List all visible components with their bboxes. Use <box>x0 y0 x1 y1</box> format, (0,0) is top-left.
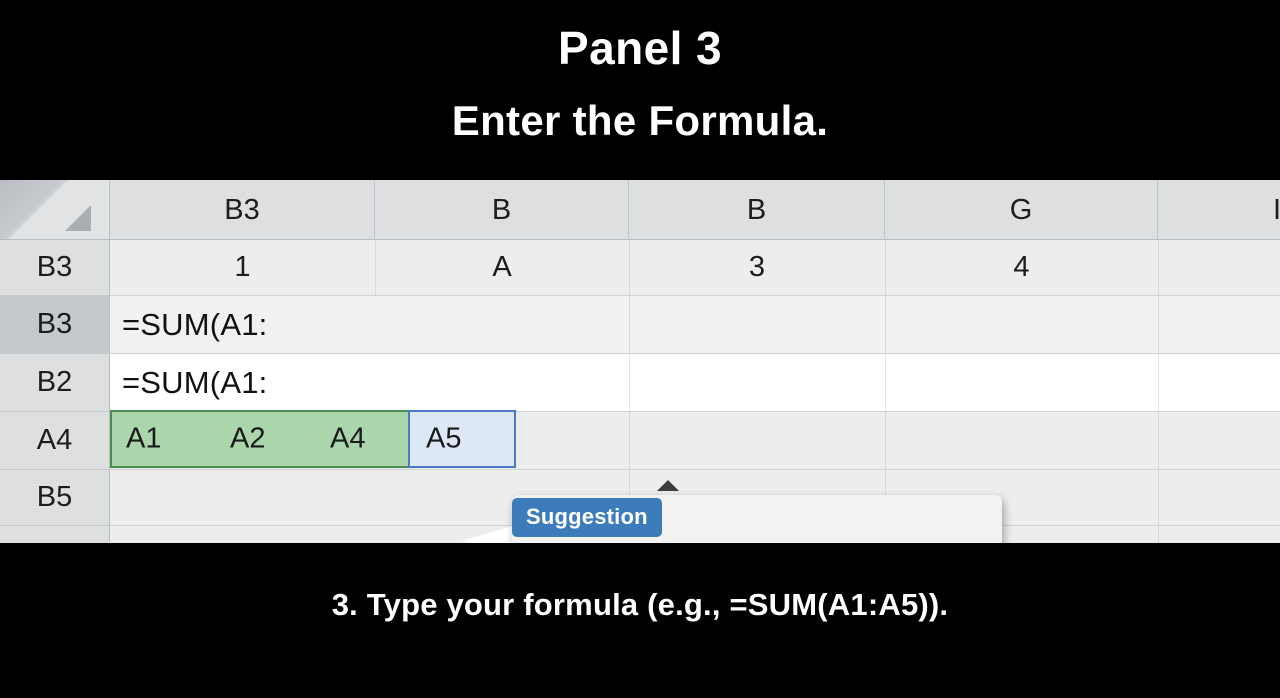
column-header-1[interactable]: B <box>375 180 629 240</box>
row-header-3[interactable]: A4 <box>0 412 110 470</box>
row-header-0[interactable]: B3 <box>0 240 110 296</box>
grid-line <box>629 296 630 353</box>
cell-a2[interactable]: A2 <box>230 423 265 456</box>
column-header-0[interactable]: B3 <box>110 180 375 240</box>
row-header-2[interactable]: B2 <box>0 354 110 412</box>
cell[interactable]: 4 <box>885 240 1158 295</box>
formula-row-b2[interactable]: =SUM(A1: <box>110 354 1280 412</box>
cell-a1[interactable]: A1 <box>126 423 161 456</box>
suggestion-badge: Suggestion <box>512 498 662 537</box>
panel-slide: Panel 3 Enter the Formula. B3 B B G I <box>0 0 1280 698</box>
row-header-1[interactable]: B3 <box>0 296 110 354</box>
grid-line <box>885 354 886 411</box>
caption-block: 3. Type your formula (e.g., =SUM(A1:A5))… <box>0 543 1280 698</box>
column-header-label: B <box>747 194 766 227</box>
suggestion-tooltip[interactable]: Suggestion SUM(number1, [number2) ...) C… <box>512 495 1002 543</box>
column-header-3[interactable]: G <box>885 180 1158 240</box>
active-cell-a5[interactable]: A5 <box>408 410 516 468</box>
cell[interactable]: 3 <box>629 240 885 295</box>
formula-input-b2[interactable]: =SUM(A1: <box>122 354 267 411</box>
select-all-corner[interactable] <box>0 180 110 240</box>
row-header-label: A4 <box>37 424 72 457</box>
row-header-label: B5 <box>37 481 72 514</box>
row-header-label: B3 <box>37 308 72 341</box>
cell-a5-label: A5 <box>426 423 461 456</box>
grid-line <box>1158 526 1159 543</box>
column-header-2[interactable]: B <box>629 180 885 240</box>
panel-subtitle: Enter the Formula. <box>452 97 828 145</box>
cell[interactable] <box>1158 240 1280 295</box>
title-block: Panel 3 Enter the Formula. <box>0 0 1280 180</box>
grid-line <box>885 296 886 353</box>
cell[interactable]: 1 <box>110 240 375 295</box>
table-row[interactable]: 1 A 3 4 <box>110 240 1280 296</box>
column-header-label: G <box>1010 194 1033 227</box>
row-header-partial[interactable] <box>0 526 110 543</box>
formula-row-active[interactable]: =SUM(A1: <box>110 296 1280 354</box>
row-header-label: B3 <box>37 251 72 284</box>
spreadsheet: B3 B B G I B3 1 A 3 4 <box>0 180 1280 543</box>
grid-line <box>629 412 630 469</box>
grid-line <box>1158 354 1159 411</box>
column-header-label: B3 <box>224 194 259 227</box>
column-header-label: B <box>492 194 511 227</box>
grid-line <box>1158 296 1159 353</box>
column-header-label: I <box>1273 194 1280 227</box>
grid-line <box>1158 412 1159 469</box>
column-header-4[interactable]: I <box>1158 180 1280 240</box>
cell-a4[interactable]: A4 <box>330 423 365 456</box>
grid-line <box>885 412 886 469</box>
cell[interactable]: A <box>375 240 629 295</box>
grid-line <box>1158 470 1159 525</box>
selected-range-green[interactable]: A1 A2 A4 <box>110 410 410 468</box>
row-header-label: B2 <box>37 366 72 399</box>
select-all-triangle-icon <box>65 205 91 231</box>
grid-line <box>629 354 630 411</box>
chevron-up-icon <box>657 480 679 491</box>
panel-title: Panel 3 <box>558 22 722 75</box>
selection-row[interactable]: A1 A2 A4 A5 <box>110 412 1280 470</box>
step-caption: 3. Type your formula (e.g., =SUM(A1:A5))… <box>332 587 949 623</box>
row-header-4[interactable]: B5 <box>0 470 110 526</box>
formula-input-b3[interactable]: =SUM(A1: <box>122 296 267 353</box>
column-header-strip: B3 B B G I <box>110 180 1280 240</box>
